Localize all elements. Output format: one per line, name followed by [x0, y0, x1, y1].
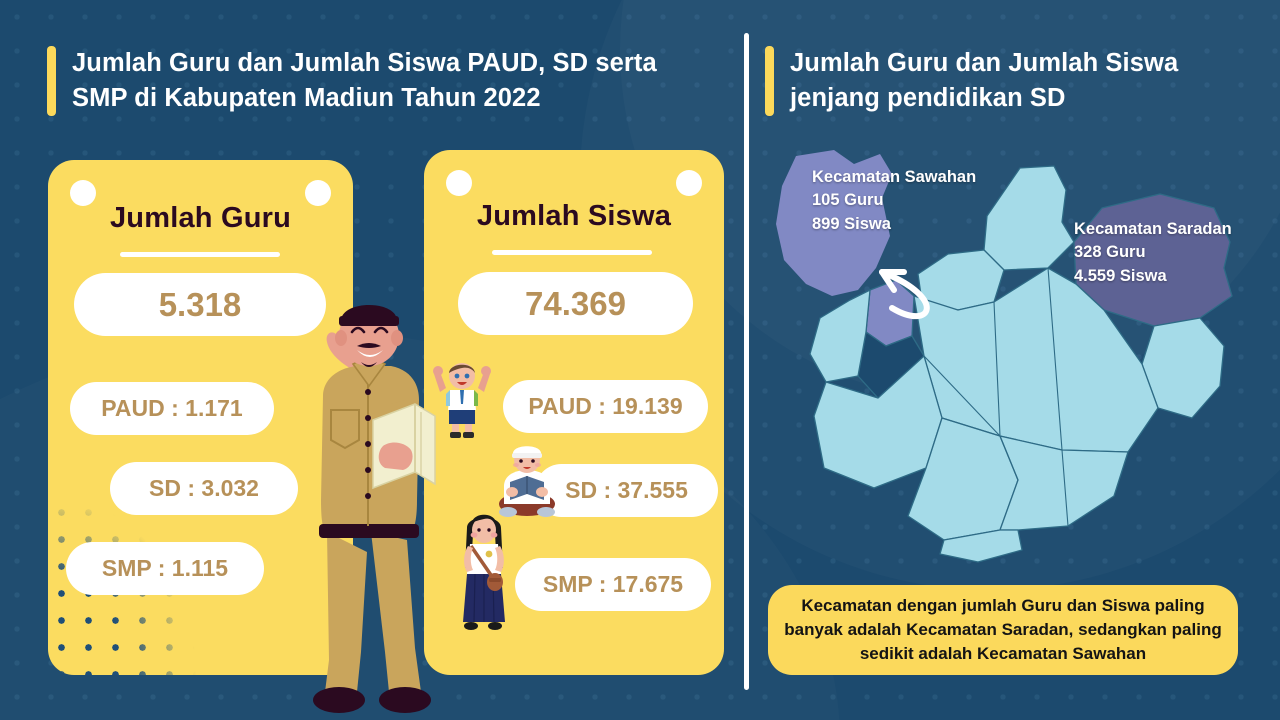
card-siswa-sd: SD : 37.555 — [535, 464, 718, 517]
saradan-student-count: 4.559 Siswa — [1074, 265, 1232, 288]
left-panel-title-text: Jumlah Guru dan Jumlah Siswa PAUD, SD se… — [72, 46, 707, 115]
right-panel-title: Jumlah Guru dan Jumlah Siswa jenjang pen… — [765, 46, 1235, 116]
sawahan-teacher-count: 105 Guru — [812, 189, 976, 212]
stat-card-siswa: Jumlah Siswa 74.369 PAUD : 19.139 SD : 3… — [424, 150, 724, 675]
card-heading-rule — [492, 250, 652, 255]
card-heading-rule — [120, 252, 280, 257]
card-siswa-heading: Jumlah Siswa — [424, 200, 724, 233]
card-guru-total: 5.318 — [74, 273, 326, 336]
map-annotation-sawahan: Kecamatan Sawahan 105 Guru 899 Siswa — [812, 166, 976, 236]
sawahan-student-count: 899 Siswa — [812, 213, 976, 236]
left-panel-title: Jumlah Guru dan Jumlah Siswa PAUD, SD se… — [47, 46, 707, 116]
map-container: Kecamatan Sawahan 105 Guru 899 Siswa Kec… — [762, 150, 1262, 570]
card-guru-heading: Jumlah Guru — [48, 202, 353, 235]
card-hole-punch-left — [446, 170, 472, 196]
sawahan-district-name: Kecamatan Sawahan — [812, 166, 976, 189]
saradan-district-name: Kecamatan Saradan — [1074, 218, 1232, 241]
summary-note-box: Kecamatan dengan jumlah Guru dan Siswa p… — [768, 585, 1238, 675]
panel-divider — [744, 33, 749, 690]
infographic-page: Jumlah Guru dan Jumlah Siswa PAUD, SD se… — [0, 0, 1280, 720]
right-panel-title-text: Jumlah Guru dan Jumlah Siswa jenjang pen… — [790, 46, 1235, 115]
stat-card-guru: Jumlah Guru 5.318 PAUD : 1.171 SD : 3.03… — [48, 160, 353, 675]
title-accent-bar — [765, 46, 774, 116]
title-accent-bar — [47, 46, 56, 116]
card-siswa-smp: SMP : 17.675 — [515, 558, 711, 611]
card-guru-sd: SD : 3.032 — [110, 462, 298, 515]
card-guru-paud: PAUD : 1.171 — [70, 382, 274, 435]
saradan-teacher-count: 328 Guru — [1074, 241, 1232, 264]
card-siswa-paud: PAUD : 19.139 — [503, 380, 708, 433]
card-hole-punch-right — [676, 170, 702, 196]
summary-note-text: Kecamatan dengan jumlah Guru dan Siswa p… — [784, 594, 1222, 666]
card-siswa-total: 74.369 — [458, 272, 693, 335]
card-guru-smp: SMP : 1.115 — [66, 542, 264, 595]
map-annotation-saradan: Kecamatan Saradan 328 Guru 4.559 Siswa — [1074, 218, 1232, 288]
